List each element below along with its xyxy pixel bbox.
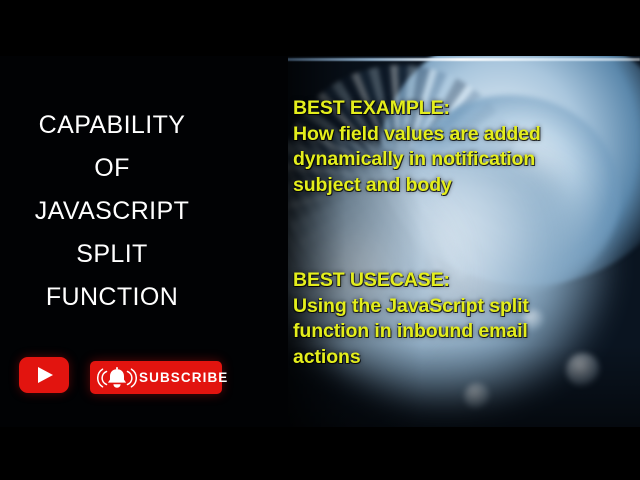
title-line-5: FUNCTION	[8, 276, 216, 319]
callout-usecase-line-2: function in inbound email	[293, 319, 529, 345]
callout-usecase-line-3: actions	[293, 345, 529, 371]
video-thumbnail: CAPABILITY OF JAVASCRIPT SPLIT FUNCTION …	[0, 0, 640, 480]
callout-example-heading: BEST EXAMPLE:	[293, 96, 541, 122]
play-triangle-icon	[38, 367, 53, 383]
callout-best-example: BEST EXAMPLE: How field values are added…	[293, 96, 541, 198]
youtube-play-icon[interactable]	[19, 357, 69, 393]
letterbox-top	[0, 0, 640, 56]
callout-usecase-heading: BEST USECASE:	[293, 268, 529, 294]
subscribe-label: SUBSCRIBE	[139, 370, 228, 385]
title-line-2: OF	[8, 147, 216, 190]
page-title: CAPABILITY OF JAVASCRIPT SPLIT FUNCTION	[8, 104, 216, 319]
callout-usecase-line-1: Using the JavaScript split	[293, 294, 529, 320]
title-line-4: SPLIT	[8, 233, 216, 276]
notification-bell-icon	[97, 365, 137, 391]
callout-example-line-2: dynamically in notification	[293, 147, 541, 173]
letterbox-bottom	[0, 427, 640, 480]
subscribe-button[interactable]: SUBSCRIBE	[90, 361, 222, 394]
callout-best-usecase: BEST USECASE: Using the JavaScript split…	[293, 268, 529, 370]
title-line-1: CAPABILITY	[8, 104, 216, 147]
callout-example-line-1: How field values are added	[293, 122, 541, 148]
callout-example-line-3: subject and body	[293, 173, 541, 199]
title-line-3: JAVASCRIPT	[8, 190, 216, 233]
